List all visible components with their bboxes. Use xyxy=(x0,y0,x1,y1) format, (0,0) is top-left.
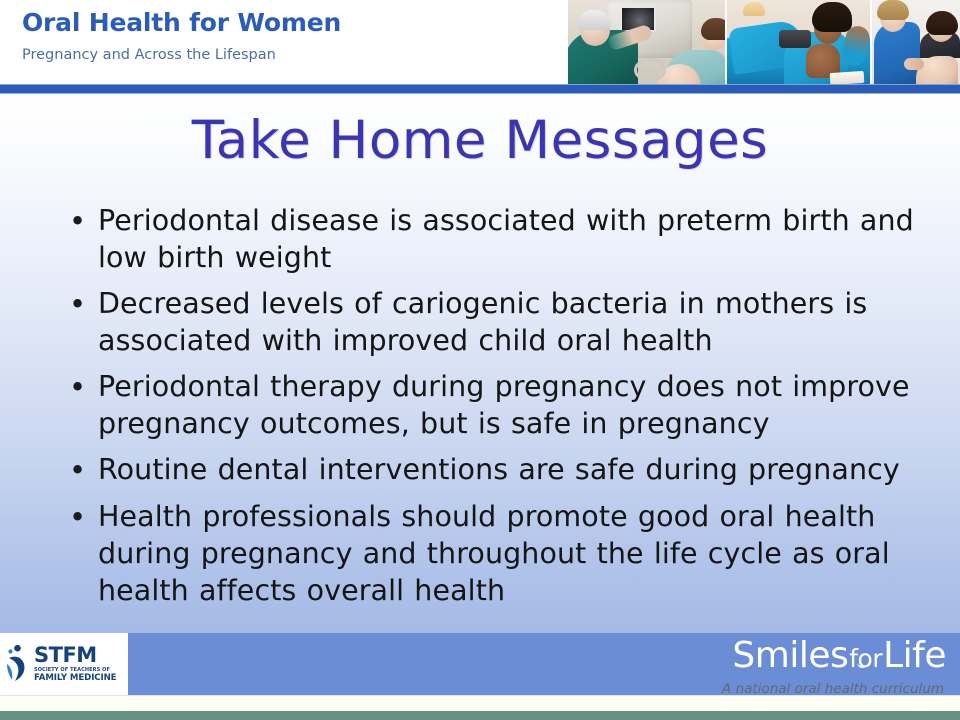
sfl-for-text: for xyxy=(849,644,882,673)
bullet-text: Decreased levels of cariogenic bacteria … xyxy=(98,285,918,359)
header-title: Oral Health for Women xyxy=(22,8,341,38)
woman-on-couch-photo xyxy=(727,0,870,84)
stfm-wordmark: STFM SOCIETY OF TEACHERS OF FAMILY MEDIC… xyxy=(34,645,116,683)
bullet-list: • Periodontal disease is associated with… xyxy=(58,202,918,618)
bullet-marker-icon: • xyxy=(58,285,98,323)
list-item: • Decreased levels of cariogenic bacteri… xyxy=(58,285,918,359)
footer-green-band xyxy=(0,711,960,720)
smiles-for-life-wordmark: SmilesforLife xyxy=(722,635,946,680)
slide-body: Take Home Messages • Periodontal disease… xyxy=(0,94,960,633)
bullet-text: Routine dental interventions are safe du… xyxy=(98,451,918,488)
bullet-marker-icon: • xyxy=(58,498,98,536)
smiles-for-life-tagline: A national oral health curriculum xyxy=(722,681,944,697)
ultrasound-exam-photo xyxy=(568,0,725,84)
bullet-marker-icon: • xyxy=(58,451,98,489)
header-photo-strip xyxy=(568,0,960,84)
stfm-tagline-line2: FAMILY MEDICINE xyxy=(34,674,116,683)
bullet-text: Periodontal therapy during pregnancy doe… xyxy=(98,368,918,442)
bullet-marker-icon: • xyxy=(58,368,98,406)
list-item: • Periodontal therapy during pregnancy d… xyxy=(58,368,918,442)
stfm-logo: STFM SOCIETY OF TEACHERS OF FAMILY MEDIC… xyxy=(0,633,128,695)
sfl-word-smiles: Smiles xyxy=(732,635,848,676)
sfl-word-for: for xyxy=(848,644,883,673)
stfm-acronym: STFM xyxy=(34,645,116,666)
bullet-text: Health professionals should promote good… xyxy=(98,498,918,609)
slide-footer: STFM SOCIETY OF TEACHERS OF FAMILY MEDIC… xyxy=(0,633,960,720)
slide-header: Oral Health for Women Pregnancy and Acro… xyxy=(0,0,960,86)
smiles-for-life-logo: SmilesforLife A national oral health cur… xyxy=(722,635,946,697)
list-item: • Periodontal disease is associated with… xyxy=(58,202,918,276)
sfl-word-life: Life xyxy=(883,635,946,676)
list-item: • Routine dental interventions are safe … xyxy=(58,451,918,489)
bullet-marker-icon: • xyxy=(58,202,98,240)
header-subtitle: Pregnancy and Across the Lifespan xyxy=(22,45,341,65)
header-text-block: Oral Health for Women Pregnancy and Acro… xyxy=(22,8,341,65)
belly-check-photo xyxy=(872,0,960,84)
header-divider-rule xyxy=(0,84,960,94)
bullet-text: Periodontal disease is associated with p… xyxy=(98,202,918,276)
page-title: Take Home Messages xyxy=(0,110,960,172)
footer-cream-band xyxy=(0,695,960,712)
list-item: • Health professionals should promote go… xyxy=(58,498,918,609)
slide-canvas: Oral Health for Women Pregnancy and Acro… xyxy=(0,0,960,720)
stfm-figure-icon xyxy=(6,644,32,684)
